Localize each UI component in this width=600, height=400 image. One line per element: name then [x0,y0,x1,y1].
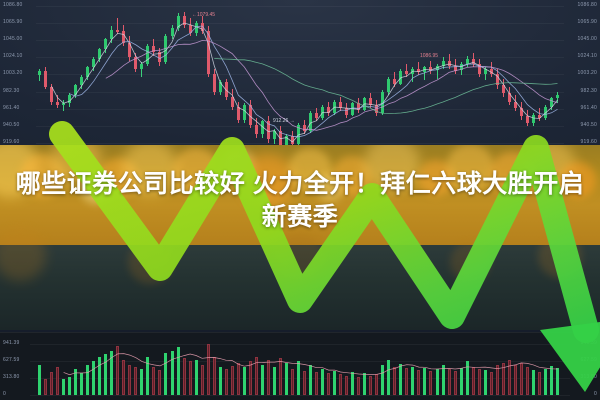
stock-chart-article-image: 1086.801065.901045.001024.101003.20982.3… [0,0,600,400]
headline-text: 哪些证券公司比较好 火力全开！拜仁六球大胜开启新赛季 [0,168,600,234]
